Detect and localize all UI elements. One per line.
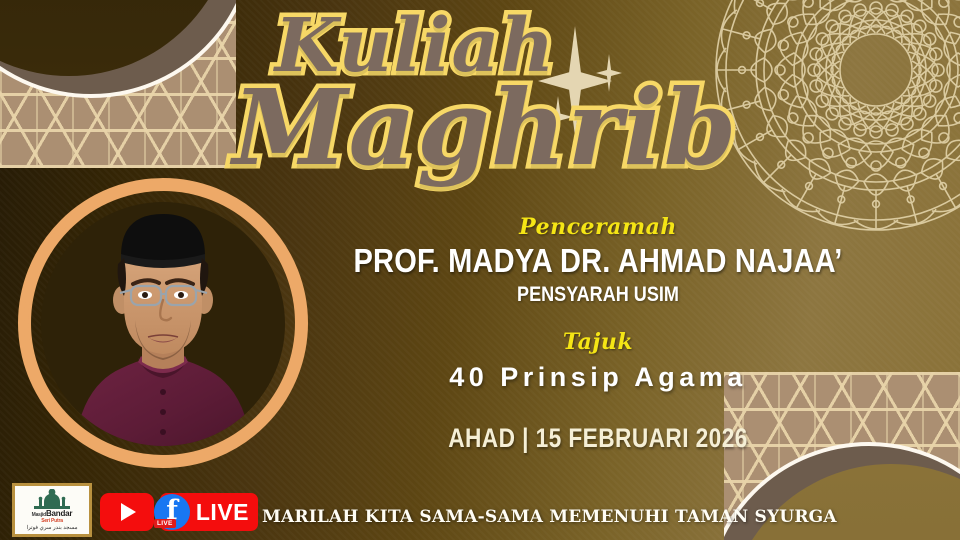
event-details: Penceramah PROF. MADYA DR. AHMAD NAJAA’ … [318,214,878,454]
title-line-maghrib: Maghrib [10,77,960,179]
event-date: AHAD | 15 FEBRUARI 2026 [363,423,833,454]
poster-canvas: Kuliah Maghrib [0,0,960,540]
logo-brand-arabic: مسجد بندر سري فوترا [26,525,77,531]
logo-wordmark: MasjidBandar [32,510,73,518]
speaker-label: Penceramah [318,214,878,240]
footer-tagline: MARILAH KITA SAMA-SAMA MEMENUHI TAMAN SY… [262,507,837,527]
speaker-role: PENSYARAH USIM [357,283,839,307]
footer-bar: MasjidBandar Seri Putra مسجد بندر سري فو… [0,480,960,540]
mosque-logo: MasjidBandar Seri Putra مسجد بندر سري فو… [12,483,92,537]
topic-title: 40 Prinsip Agama [318,362,878,393]
logo-brand-main: Bandar [46,509,72,518]
facebook-live-button[interactable]: f LIVE LIVE [160,493,258,531]
youtube-play-icon[interactable] [100,493,154,531]
topic-label: Tajuk [318,329,878,355]
live-label: LIVE [196,499,249,526]
facebook-f-icon: f LIVE [154,494,190,530]
poster-title: Kuliah Maghrib [0,10,960,178]
facebook-live-badge: LIVE [154,519,176,528]
portrait-brush-ring [18,178,308,468]
speaker-name: PROF. MADYA DR. AHMAD NAJAA’ [352,242,845,280]
play-triangle-icon [121,503,136,521]
logo-brand-sub: Seri Putra [41,518,63,524]
speaker-portrait [18,178,308,468]
mosque-icon [30,489,74,509]
